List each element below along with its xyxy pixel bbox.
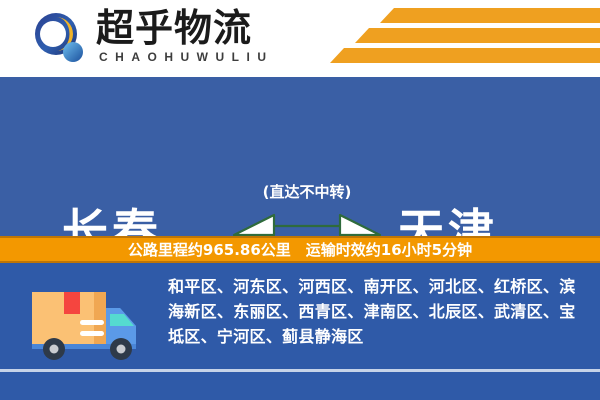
delivery-truck-icon [24, 280, 146, 360]
coverage-districts-text: 和平区、河东区、河西区、南开区、河北区、红桥区、滨海新区、东丽区、西青区、津南区… [168, 274, 586, 349]
stripe-3 [330, 48, 600, 63]
header: 超乎物流 CHAOHUWULIU [0, 0, 600, 74]
brand-name-en: CHAOHUWULIU [99, 50, 274, 64]
distance-duration-text: 公路里程约965.86公里 运输时效约16小时5分钟 [128, 241, 472, 259]
distance-duration-bar: 公路里程约965.86公里 运输时效约16小时5分钟 [0, 236, 600, 263]
logistics-route-banner: 超乎物流 CHAOHUWULIU 长春 (直达不中转) 【往返运输】 天津 公路… [0, 0, 600, 400]
route-banner: 长春 (直达不中转) 【往返运输】 天津 [0, 77, 600, 236]
stripe-2 [355, 28, 600, 43]
orange-speed-stripes-icon [300, 4, 600, 70]
stripe-1 [380, 8, 600, 23]
circle-crescent-logo-icon [33, 12, 85, 64]
brand-name-cn: 超乎物流 [96, 8, 252, 48]
bottom-divider [0, 369, 600, 372]
route-note-direct: (直达不中转) [232, 183, 382, 201]
